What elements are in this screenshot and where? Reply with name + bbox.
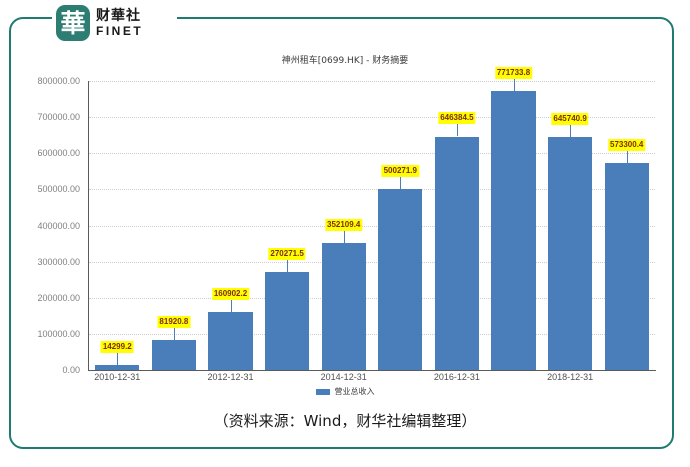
bar-value-label: 160902.2 [212,288,249,300]
bar[interactable] [605,163,649,370]
value-label-leader [627,151,628,163]
value-label-leader [231,300,232,312]
y-axis-tick-label: 0.00 [62,365,80,375]
chart-legend: 营业总收入 [0,386,690,397]
bar-value-label: 646384.5 [438,112,475,124]
bar-value-label: 573300.4 [608,139,645,151]
y-axis-tick-label: 200000.00 [37,293,80,303]
y-axis-tick-label: 600000.00 [37,148,80,158]
value-label-leader [514,79,515,91]
value-label-leader [287,260,288,272]
y-axis-tick-label: 300000.00 [37,257,80,267]
x-axis-tick-label: 2018-12-31 [547,372,593,382]
bar-value-label: 14299.2 [101,341,134,353]
bar-value-label: 270271.5 [268,248,305,260]
bar[interactable] [95,365,139,370]
bar[interactable] [435,137,479,371]
x-axis-tick-label: 2010-12-31 [94,372,140,382]
x-axis-tick-label: 2014-12-31 [321,372,367,382]
x-axis-tick-label: 2016-12-31 [434,372,480,382]
y-axis-tick-label: 700000.00 [37,112,80,122]
bar-value-label: 500271.9 [382,165,419,177]
bar-value-label: 645740.9 [551,113,588,125]
source-caption: （资料来源：Wind，财华社编辑整理） [0,410,690,431]
value-label-leader [117,353,118,365]
legend-label: 营业总收入 [335,386,375,397]
bar[interactable] [265,272,309,370]
y-axis-tick-label: 500000.00 [37,184,80,194]
y-axis-tick-label: 400000.00 [37,221,80,231]
value-label-leader [174,328,175,340]
bar[interactable] [208,312,252,370]
x-axis-tick-label: 2012-12-31 [207,372,253,382]
bar[interactable] [491,91,535,370]
value-label-leader [400,177,401,189]
y-axis-tick-labels: 0.00100000.00200000.00300000.00400000.00… [22,81,84,370]
bar-value-label: 81920.8 [157,316,190,328]
bar[interactable] [548,137,592,370]
bar-value-label: 352109.4 [325,219,362,231]
y-axis-tick-label: 800000.00 [37,76,80,86]
bar[interactable] [152,340,196,370]
value-label-leader [570,125,571,137]
bar[interactable] [378,189,422,370]
legend-swatch-icon [316,389,330,395]
value-label-leader [344,231,345,243]
bar[interactable] [322,243,366,370]
bar-value-label: 771733.8 [495,67,532,79]
y-axis-tick-label: 100000.00 [37,329,80,339]
value-label-leader [457,124,458,136]
bar-series: 14299.281920.8160902.2270271.5352109.450… [89,81,655,370]
x-axis-line [88,370,656,371]
